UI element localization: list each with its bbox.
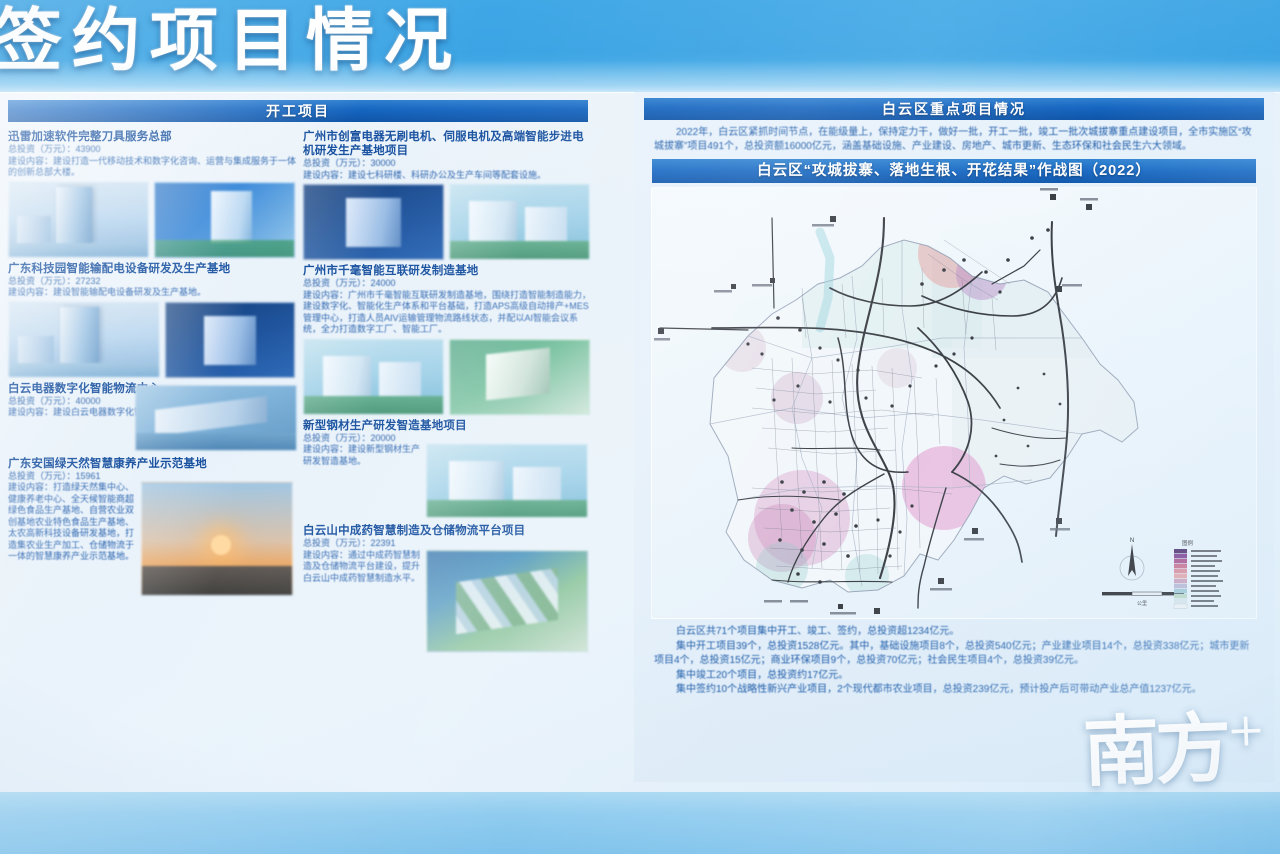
summary-line: 集中开工项目39个，总投资1528亿元。其中，基础设施项目8个，总投资540亿元…: [654, 640, 1254, 669]
project-photo: [449, 184, 590, 260]
project-photo: [8, 182, 149, 258]
project-title: 广东科技园智能输配电设备研发及生产基地: [8, 262, 297, 276]
project-images: [8, 182, 297, 258]
project-photo: [154, 182, 295, 258]
project-investment: 总投资（万元）：20000: [303, 433, 592, 445]
project-title: 广州市创富电器无刷电机、伺服电机及高端智能步进电机研发生产基地项目: [303, 130, 592, 158]
project-photo: [303, 339, 444, 415]
project-photo: [449, 339, 590, 415]
header-shadow: [0, 60, 1280, 96]
project-investment: 总投资（万元）：24000: [303, 278, 592, 290]
project-photo: [141, 482, 293, 596]
project-column-1: 迅雷加速软件完整刀具服务总部 总投资（万元）：43900 建设内容：建设打造一代…: [8, 130, 297, 770]
project-photo: [303, 184, 444, 260]
project-card[interactable]: 白云山中成药智慧制造及仓储物流平台项目 总投资（万元）：22391 建设内容：通…: [303, 524, 592, 652]
project-investment: 总投资（万元）：22391: [303, 538, 592, 550]
project-photo: [8, 302, 160, 378]
svg-text:图例: 图例: [1182, 539, 1194, 547]
district-map[interactable]: N 公里 图例: [651, 187, 1257, 619]
summary-line: 白云区共71个项目集中开工、竣工、签约，总投资超1234亿元。: [654, 625, 1254, 640]
left-panel: 开工项目 迅雷加速软件完整刀具服务总部 总投资（万元）：43900 建设内容：建…: [0, 100, 596, 772]
project-photo: [426, 444, 588, 518]
project-investment: 总投资（万元）：27232: [8, 276, 297, 288]
project-description: 建设内容：打造绿天然集中心、健康养老中心、全天候智能商超绿色食品生产基地、自营农…: [8, 482, 136, 596]
display-board: 开工项目 迅雷加速软件完整刀具服务总部 总投资（万元）：43900 建设内容：建…: [0, 92, 1280, 792]
project-column-2: 广州市创富电器无刷电机、伺服电机及高端智能步进电机研发生产基地项目 总投资（万元…: [303, 130, 592, 770]
project-card[interactable]: 白云电器数字化智能物流中心 总投资（万元）：40000 建设内容：建设白云电器数…: [8, 382, 297, 451]
project-photo: [135, 385, 297, 451]
project-description: 建设内容：广州市千毫智能互联研发制造基地，围绕打造智能制造能力，建设数字化、智能…: [303, 290, 592, 336]
project-photo: [165, 302, 295, 378]
project-card[interactable]: 广州市千毫智能互联研发制造基地 总投资（万元）：24000 建设内容：广州市千毫…: [303, 264, 592, 415]
right-panel-header: 白云区重点项目情况: [644, 98, 1264, 120]
map-title: 白云区“攻城拔寨、落地生根、开花结果”作战图（2022）: [652, 159, 1256, 183]
right-panel: 白云区重点项目情况 2022年，白云区紧抓时间节点，在能级量上，保持定力干，做好…: [634, 92, 1274, 782]
project-title: 新型钢材生产研发智造基地项目: [303, 419, 592, 433]
svg-text:公里: 公里: [1137, 601, 1147, 607]
project-card[interactable]: 广州市创富电器无刷电机、伺服电机及高端智能步进电机研发生产基地项目 总投资（万元…: [303, 130, 592, 260]
project-card[interactable]: 广东科技园智能输配电设备研发及生产基地 总投资（万元）：27232 建设内容：建…: [8, 262, 297, 378]
left-panel-header: 开工项目: [8, 100, 588, 122]
project-title: 广州市千毫智能互联研发制造基地: [303, 264, 592, 278]
project-card[interactable]: 迅雷加速软件完整刀具服务总部 总投资（万元）：43900 建设内容：建设打造一代…: [8, 130, 297, 258]
project-summary: 白云区共71个项目集中开工、竣工、签约，总投资超1234亿元。 集中开工项目39…: [654, 625, 1254, 698]
bottom-band-glare: [0, 792, 1280, 854]
project-title: 广东安国绿天然智慧康养产业示范基地: [8, 457, 297, 471]
project-images: [303, 184, 592, 260]
map-svg: N 公里 图例: [652, 188, 1256, 618]
project-description: 建设内容：建设新型钢材生产研发智造基地。: [303, 444, 421, 518]
project-description: 建设内容：建设打造一代移动技术和数字化咨询、运营与集成服务于一体的创新总部大楼。: [8, 156, 297, 179]
screenshot-stage: 签约项目情况 开工项目 迅雷加速软件完整刀具服务总部 总投资（万元）：43900…: [0, 0, 1280, 854]
summary-line: 集中竣工20个项目，总投资约17亿元。: [654, 669, 1254, 684]
project-card[interactable]: 广东安国绿天然智慧康养产业示范基地 总投资（万元）：15961 建设内容：打造绿…: [8, 457, 297, 597]
summary-line: 集中签约10个战略性新兴产业项目，2个现代都市农业项目，总投资239亿元，预计投…: [654, 683, 1254, 698]
project-investment: 总投资（万元）：15961: [8, 471, 297, 483]
project-card[interactable]: 新型钢材生产研发智造基地项目 总投资（万元）：20000 建设内容：建设新型钢材…: [303, 419, 592, 519]
project-investment: 总投资（万元）：30000: [303, 158, 592, 170]
project-description: 建设内容：通过中成药智慧制造及仓储物流平台建设，提升白云山中成药智慧制造水平。: [303, 550, 421, 652]
project-title: 迅雷加速软件完整刀具服务总部: [8, 130, 297, 144]
project-columns: 迅雷加速软件完整刀具服务总部 总投资（万元）：43900 建设内容：建设打造一代…: [8, 130, 592, 770]
map-legend: 图例: [1174, 539, 1223, 608]
project-images: [303, 339, 592, 415]
project-photo: [426, 550, 588, 652]
project-description: 建设内容：建设智能输配电设备研发及生产基地。: [8, 287, 297, 299]
map-scale-bar: 公里: [1102, 592, 1184, 607]
project-investment: 总投资（万元）：43900: [8, 144, 297, 156]
compass-rose-icon: N: [1120, 538, 1144, 580]
right-panel-intro: 2022年，白云区紧抓时间节点，在能级量上，保持定力干，做好一批，开工一批，竣工…: [654, 126, 1254, 153]
project-title: 白云山中成药智慧制造及仓储物流平台项目: [303, 524, 592, 538]
map-district-fill: [652, 188, 1256, 618]
project-images: [8, 302, 297, 378]
svg-text:N: N: [1130, 538, 1134, 544]
project-description: 建设内容：建设七科研楼、科研办公及生产车间等配套设施。: [303, 170, 592, 182]
